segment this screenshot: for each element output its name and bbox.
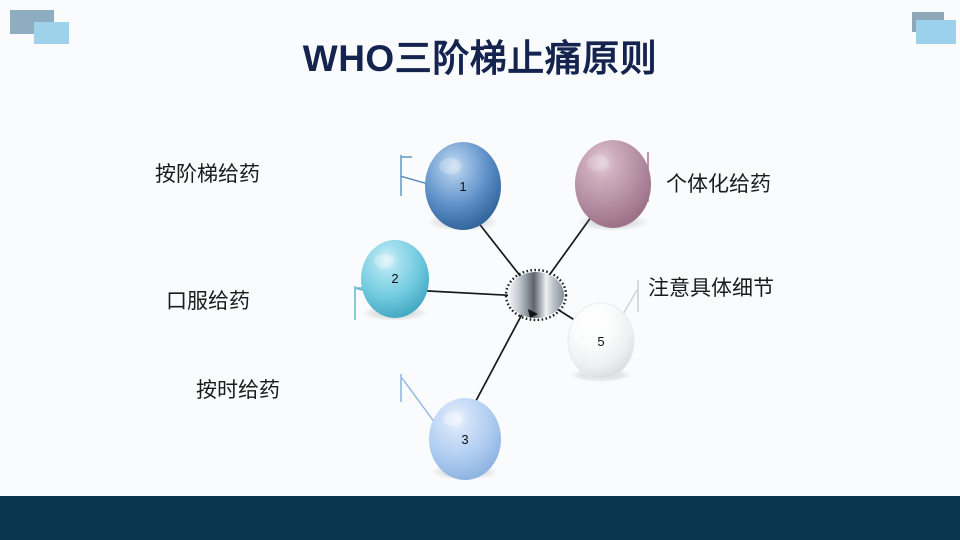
node-number-2: 2 bbox=[375, 271, 415, 286]
node-number-1: 1 bbox=[443, 179, 483, 194]
radial-diagram bbox=[0, 0, 960, 540]
center-hub[interactable] bbox=[506, 270, 566, 320]
slide-canvas: WHO三阶梯止痛原则 bbox=[0, 0, 960, 540]
footer-band bbox=[0, 496, 960, 540]
node-label-2: 口服给药 bbox=[110, 285, 250, 315]
node-label-3: 按时给药 bbox=[140, 374, 280, 404]
node-label-1: 按阶梯给药 bbox=[120, 158, 260, 188]
node-label-4: 个体化给药 bbox=[666, 168, 771, 198]
spoke-lines bbox=[410, 212, 594, 412]
node-spheres bbox=[361, 140, 651, 480]
node-number-5: 5 bbox=[581, 334, 621, 349]
node-label-5: 注意具体细节 bbox=[648, 272, 774, 302]
spoke-to-node-3 bbox=[470, 303, 528, 412]
node-sphere-4[interactable] bbox=[575, 140, 651, 228]
node-number-3: 3 bbox=[445, 432, 485, 447]
